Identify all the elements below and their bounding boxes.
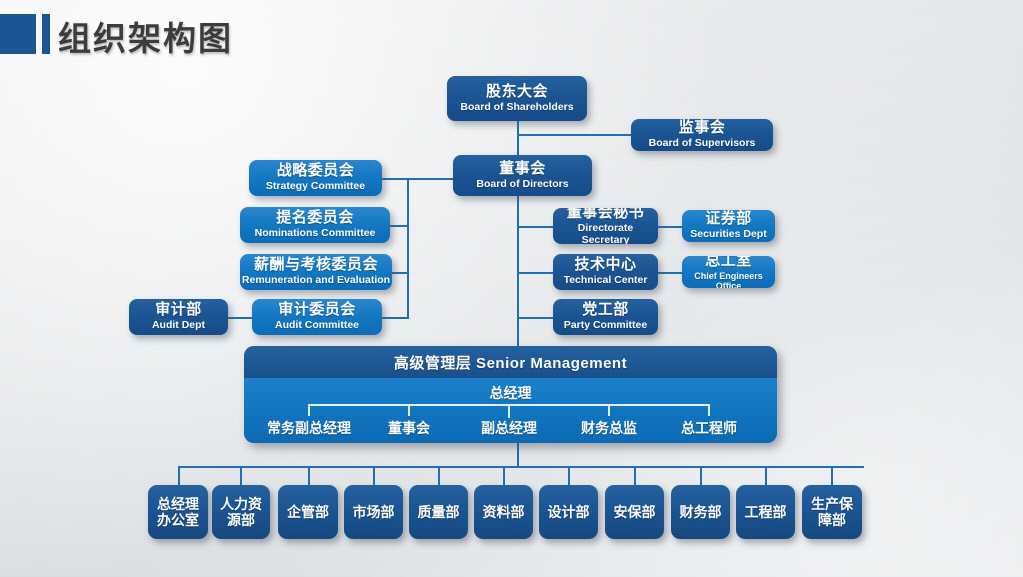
sm-connector-drop-5 [708, 404, 710, 416]
department-drop-8 [634, 466, 636, 485]
node-label-cn: 股东大会 [486, 84, 548, 101]
sm-connector-drop-1 [308, 404, 310, 416]
department-box[interactable]: 总经理办公室 [148, 485, 208, 539]
node-label-en: Board of Shareholders [460, 102, 573, 114]
department-box[interactable]: 安保部 [605, 485, 664, 539]
sm-connector-drop-4 [608, 404, 610, 416]
department-box[interactable]: 设计部 [539, 485, 598, 539]
sm-connector-drop-2 [408, 404, 410, 416]
department-box[interactable]: 生产保障部 [802, 485, 862, 539]
department-drop-11 [831, 466, 833, 485]
connector-directorate-secretary [517, 226, 553, 228]
node-label-en: Audit Committee [275, 320, 359, 332]
node-label-en: Chief Engineers Office [682, 271, 775, 288]
department-box[interactable]: 资料部 [474, 485, 533, 539]
node-label-en: Securities Dept [690, 229, 766, 241]
department-drop-1 [178, 466, 180, 485]
department-drop-2 [240, 466, 242, 485]
node-audit-dept[interactable]: 审计部 Audit Dept [129, 299, 228, 335]
node-board-of-directors[interactable]: 董事会 Board of Directors [453, 155, 592, 196]
department-box[interactable]: 企管部 [278, 485, 338, 539]
node-label-en: Audit Dept [152, 320, 205, 332]
department-drop-3 [308, 466, 310, 485]
connector-audit-committee [381, 317, 409, 319]
department-drop-9 [700, 466, 702, 485]
senior-management-header: 高级管理层 Senior Management [244, 346, 777, 378]
node-label-cn: 审计部 [155, 302, 202, 319]
department-drop-5 [438, 466, 440, 485]
connector-sm-to-departments [517, 443, 519, 467]
department-bus-line [178, 466, 864, 468]
node-label-cn: 战略委员会 [277, 163, 355, 180]
node-label-en: Board of Directors [476, 179, 568, 191]
node-audit-committee[interactable]: 审计委员会 Audit Committee [252, 299, 382, 335]
header-accent-bar-wide [0, 14, 36, 54]
node-label-en: Remuneration and Evaluation [242, 275, 390, 287]
department-drop-7 [568, 466, 570, 485]
node-label-en: Technical Center [564, 275, 648, 287]
node-label-en: Strategy Committee [266, 181, 365, 193]
department-box[interactable]: 工程部 [736, 485, 795, 539]
connector-strategy [381, 178, 409, 180]
connector-securities [658, 226, 682, 228]
connector-technical-center [517, 272, 553, 274]
general-manager-label: 总经理 [244, 383, 777, 403]
node-technical-center[interactable]: 技术中心 Technical Center [553, 254, 658, 290]
node-label-cn: 提名委员会 [276, 210, 354, 227]
department-drop-4 [373, 466, 375, 485]
sm-role-5[interactable]: 总工程师 [658, 418, 760, 438]
node-label-cn: 审计委员会 [278, 302, 356, 319]
connector-audit-dept [228, 317, 252, 319]
node-label-cn: 党工部 [582, 302, 629, 319]
connector-to-supervisors [517, 134, 631, 136]
sm-role-1[interactable]: 常务副总经理 [258, 418, 360, 438]
connector-directors-to-senior-management [517, 194, 519, 346]
org-chart-slide: 组织架构图 股东大会 Board of Shareholders 监事会 Boa… [0, 0, 1023, 577]
node-label-en: Board of Supervisors [649, 138, 756, 150]
connector-party-committee [517, 317, 553, 319]
node-label-cn: 证券部 [705, 211, 752, 228]
department-box[interactable]: 财务部 [671, 485, 730, 539]
sm-role-3[interactable]: 副总经理 [458, 418, 560, 438]
node-chief-engineers-office[interactable]: 总工室 Chief Engineers Office [682, 256, 775, 288]
department-box[interactable]: 人力资源部 [212, 485, 270, 539]
node-party-committee[interactable]: 党工部 Party Committee [553, 299, 658, 335]
department-box[interactable]: 质量部 [409, 485, 468, 539]
node-remuneration-committee[interactable]: 薪酬与考核委员会 Remuneration and Evaluation [240, 254, 392, 290]
node-board-of-shareholders[interactable]: 股东大会 Board of Shareholders [447, 76, 587, 121]
node-securities-dept[interactable]: 证券部 Securities Dept [682, 210, 775, 242]
node-label-en: Nominations Committee [255, 228, 376, 240]
node-board-of-supervisors[interactable]: 监事会 Board of Supervisors [631, 119, 773, 151]
node-label-en: Directorate Secretary [553, 223, 658, 244]
node-label-cn: 董事会秘书 [567, 208, 645, 222]
department-box[interactable]: 市场部 [344, 485, 403, 539]
connector-directors-to-committees [407, 178, 453, 180]
node-nominations-committee[interactable]: 提名委员会 Nominations Committee [240, 207, 390, 243]
department-drop-10 [765, 466, 767, 485]
node-label-cn: 技术中心 [574, 257, 636, 274]
node-label-cn: 薪酬与考核委员会 [254, 257, 378, 274]
sm-role-2[interactable]: 董事会 [358, 418, 460, 438]
committee-trunk [407, 178, 409, 318]
node-strategy-committee[interactable]: 战略委员会 Strategy Committee [249, 160, 382, 196]
page-title: 组织架构图 [58, 12, 233, 60]
department-drop-6 [503, 466, 505, 485]
connector-chief-engineers [658, 272, 682, 274]
node-label-cn: 总工室 [705, 256, 752, 270]
node-label-cn: 董事会 [499, 161, 546, 178]
senior-management-panel[interactable]: 高级管理层 Senior Management 总经理 常务副总经理 董事会 副… [244, 346, 777, 443]
header-accent-bar-thin [42, 14, 50, 54]
node-directorate-secretary[interactable]: 董事会秘书 Directorate Secretary [553, 208, 658, 244]
sm-connector-drop-3 [508, 404, 510, 416]
node-label-cn: 监事会 [679, 120, 726, 137]
sm-role-4[interactable]: 财务总监 [558, 418, 660, 438]
node-label-en: Party Committee [564, 320, 647, 332]
senior-management-body: 总经理 常务副总经理 董事会 副总经理 财务总监 总工程师 [244, 378, 777, 443]
